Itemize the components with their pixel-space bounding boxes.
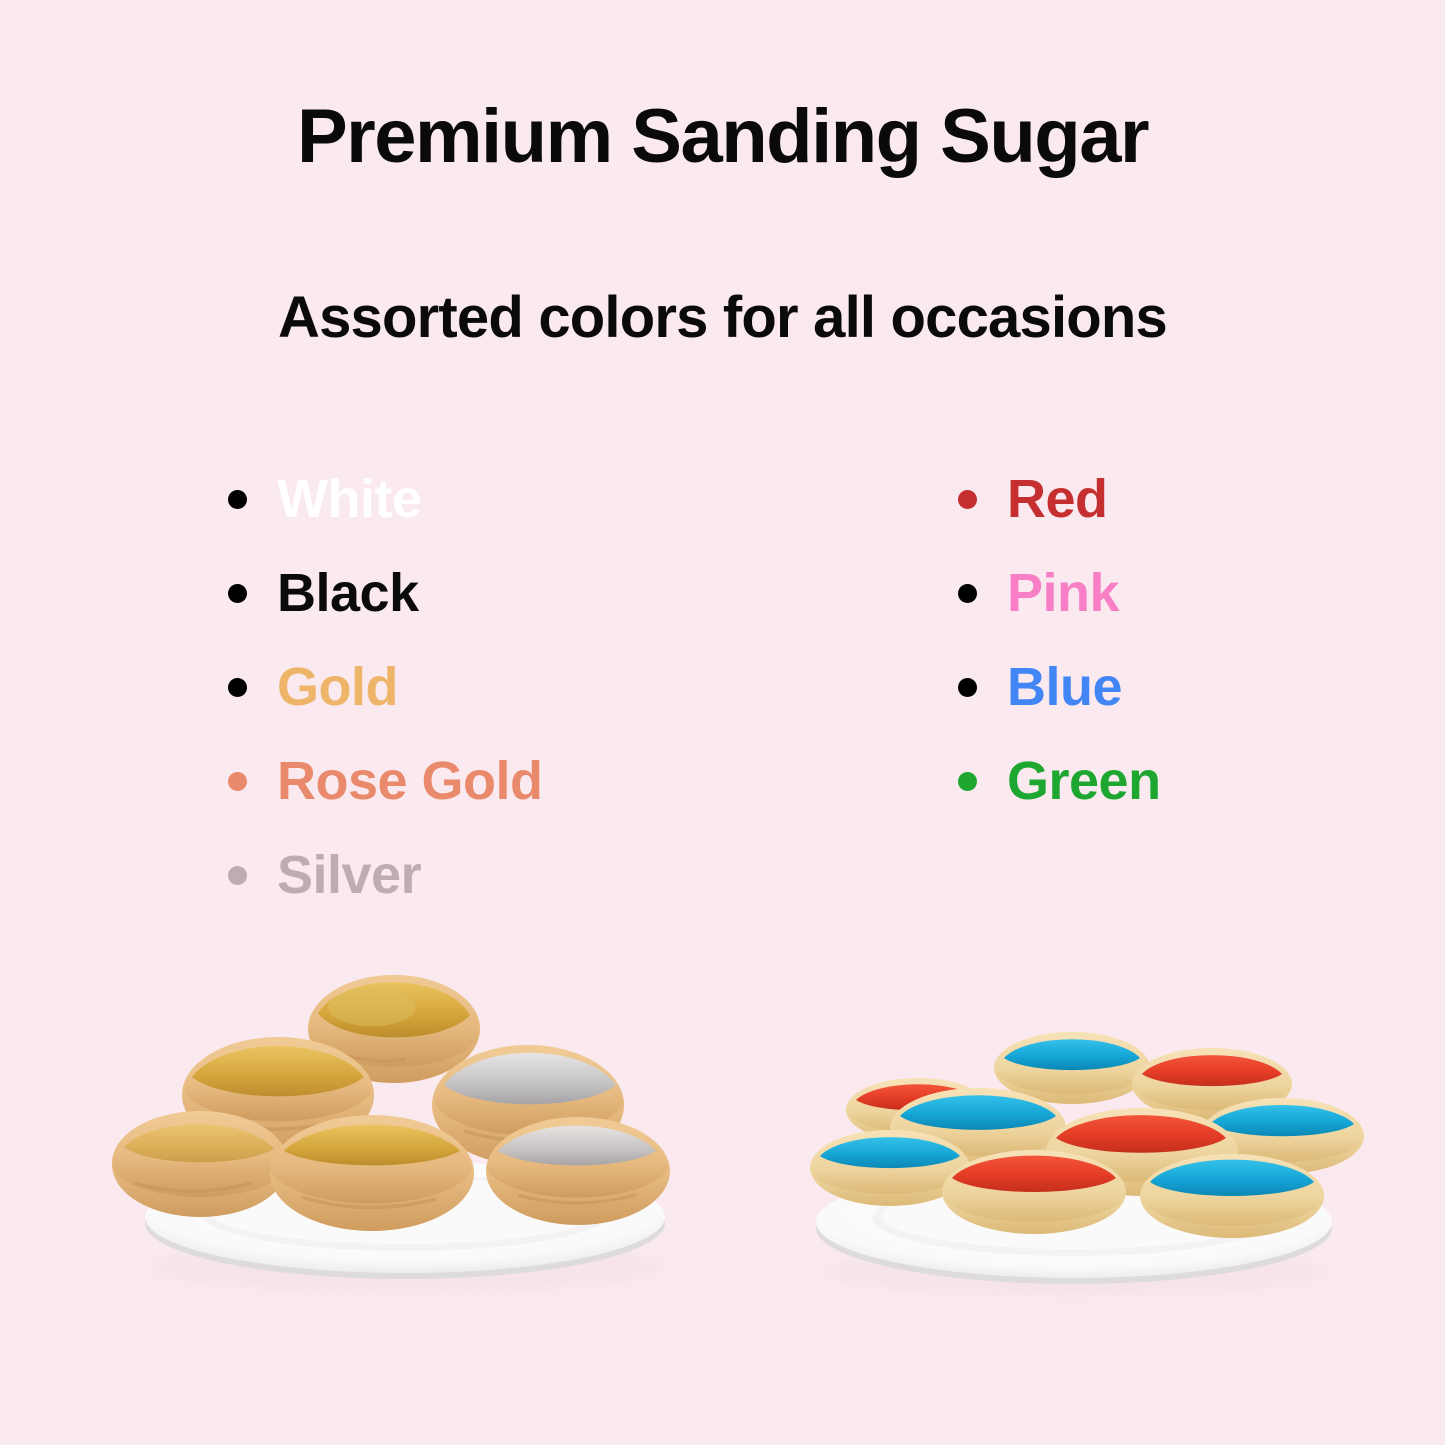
page-subtitle: Assorted colors for all occasions (0, 286, 1445, 350)
bullet-icon (958, 584, 977, 603)
page-title: Premium Sanding Sugar (0, 96, 1445, 178)
color-label: Green (1007, 754, 1161, 808)
bullet-icon (958, 490, 977, 509)
list-item: Pink (958, 546, 1161, 640)
bullet-icon (228, 490, 247, 509)
color-label: Black (277, 566, 419, 620)
color-label: Blue (1007, 660, 1122, 714)
list-item: Rose Gold (228, 734, 543, 828)
list-item: Blue (958, 640, 1161, 734)
color-list-left: White Black Gold Rose Gold Silver (228, 452, 543, 922)
bullet-icon (958, 772, 977, 791)
color-label: Rose Gold (277, 754, 543, 808)
bullet-icon (958, 678, 977, 697)
list-item: Gold (228, 640, 543, 734)
bullet-icon (228, 866, 247, 885)
list-item: Green (958, 734, 1161, 828)
bullet-icon (228, 772, 247, 791)
color-label: White (277, 472, 421, 526)
color-label: Red (1007, 472, 1108, 526)
list-item: Red (958, 452, 1161, 546)
product-infographic: Premium Sanding Sugar Assorted colors fo… (0, 0, 1445, 1445)
color-label: Silver (277, 848, 421, 902)
list-item: White (228, 452, 543, 546)
list-item: Silver (228, 828, 543, 922)
bullet-icon (228, 584, 247, 603)
color-list-right: Red Pink Blue Green (958, 452, 1161, 828)
color-label: Gold (277, 660, 398, 714)
color-options: White Black Gold Rose Gold Silver (0, 452, 1445, 912)
list-item: Black (228, 546, 543, 640)
color-label: Pink (1007, 566, 1119, 620)
bullet-icon (228, 678, 247, 697)
product-photo-gold-silver (72, 955, 737, 1305)
product-photo-red-blue (742, 1020, 1407, 1305)
